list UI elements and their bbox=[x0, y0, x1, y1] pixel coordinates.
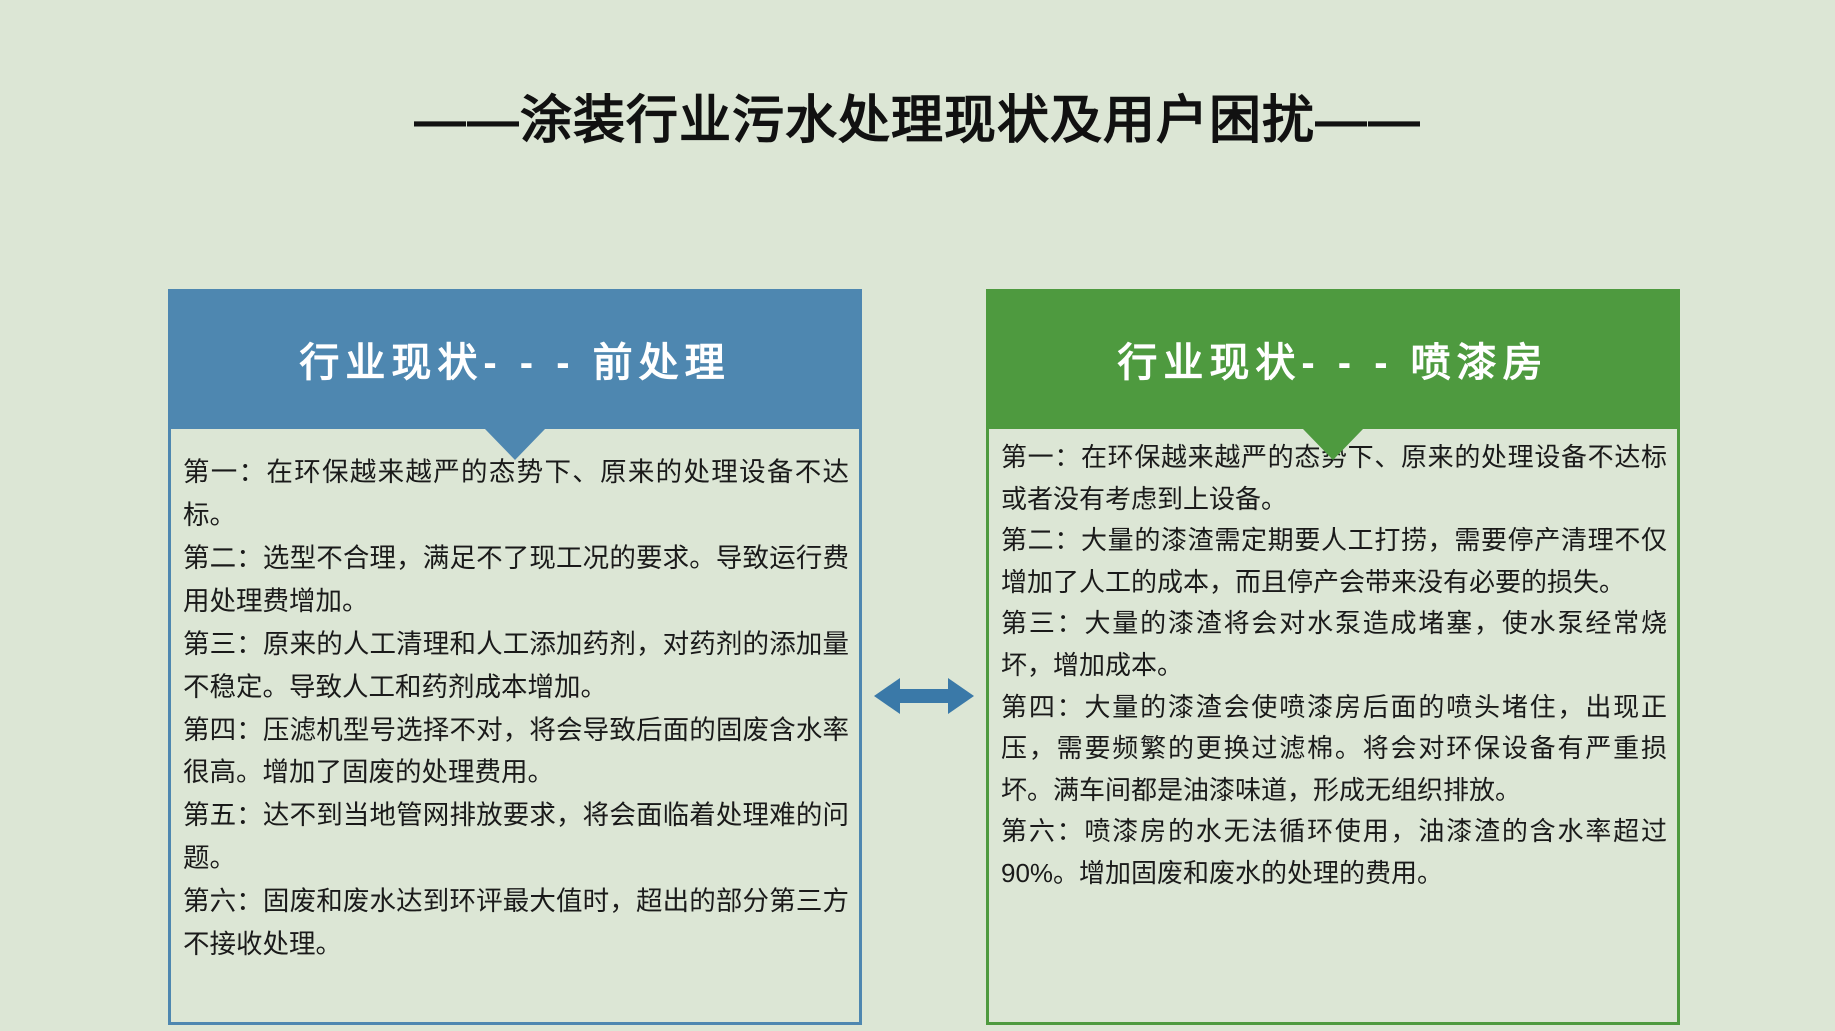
list-item: 第一：在环保越来越严的态势下、原来的处理设备不达标。 bbox=[183, 451, 849, 537]
card-spray-booth-header-label: 行业现状- - - 喷漆房 bbox=[1117, 330, 1548, 388]
slide-canvas: ——涂装行业污水处理现状及用户困扰—— 行业现状- - - 前处理 第一：在环保… bbox=[0, 0, 1835, 1031]
list-item: 第二：大量的漆渣需定期要人工打捞，需要停产清理不仅增加了人工的成本，而且停产会带… bbox=[1001, 520, 1667, 603]
card-spray-booth-body: 第一：在环保越来越严的态势下、原来的处理设备不达标或者没有考虑到上设备。 第二：… bbox=[986, 429, 1680, 1025]
card-pretreatment-body: 第一：在环保越来越严的态势下、原来的处理设备不达标。 第二：选型不合理，满足不了… bbox=[168, 429, 862, 1025]
list-item: 第四：大量的漆渣会使喷漆房后面的喷头堵住，出现正压，需要频繁的更换过滤棉。将会对… bbox=[1001, 687, 1667, 812]
list-item: 第六：喷漆房的水无法循环使用，油漆渣的含水率超过90%。增加固废和废水的处理的费… bbox=[1001, 811, 1667, 894]
page-title: ——涂装行业污水处理现状及用户困扰—— bbox=[0, 78, 1835, 153]
list-item: 第三：原来的人工清理和人工添加药剂，对药剂的添加量不稳定。导致人工和药剂成本增加… bbox=[183, 623, 849, 709]
card-spray-booth-header: 行业现状- - - 喷漆房 bbox=[986, 289, 1680, 429]
pointer-notch-icon bbox=[1303, 429, 1363, 460]
double-arrow-icon bbox=[874, 676, 974, 716]
list-item: 第四：压滤机型号选择不对，将会导致后面的固废含水率很高。增加了固废的处理费用。 bbox=[183, 709, 849, 795]
card-pretreatment-header: 行业现状- - - 前处理 bbox=[168, 289, 862, 429]
list-item: 第五：达不到当地管网排放要求，将会面临着处理难的问题。 bbox=[183, 794, 849, 880]
list-item: 第六：固废和废水达到环评最大值时，超出的部分第三方不接收处理。 bbox=[183, 880, 849, 966]
card-spray-booth: 行业现状- - - 喷漆房 第一：在环保越来越严的态势下、原来的处理设备不达标或… bbox=[986, 289, 1680, 1025]
pointer-notch-icon bbox=[485, 429, 545, 460]
list-item: 第三：大量的漆渣将会对水泵造成堵塞，使水泵经常烧坏，增加成本。 bbox=[1001, 603, 1667, 686]
card-pretreatment: 行业现状- - - 前处理 第一：在环保越来越严的态势下、原来的处理设备不达标。… bbox=[168, 289, 862, 1025]
list-item: 第二：选型不合理，满足不了现工况的要求。导致运行费用处理费增加。 bbox=[183, 537, 849, 623]
card-pretreatment-header-label: 行业现状- - - 前处理 bbox=[299, 330, 730, 388]
